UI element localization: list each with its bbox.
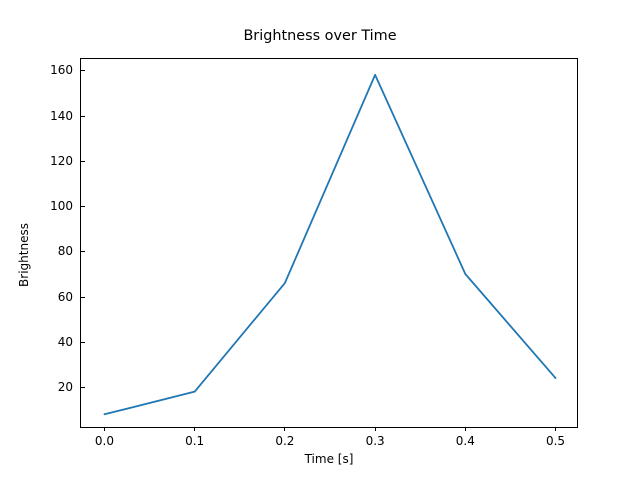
y-tick-mark: [81, 70, 85, 71]
brightness-line-series: [104, 75, 555, 414]
x-tick-label: 0.3: [366, 435, 385, 447]
x-tick-label: 0.5: [546, 435, 565, 447]
x-axis-label: Time [s]: [80, 452, 578, 466]
y-tick-label: 100: [50, 200, 81, 212]
y-tick-mark: [81, 161, 85, 162]
x-tick-mark: [465, 427, 466, 431]
y-tick-label: 160: [50, 64, 81, 76]
x-tick-label: 0.0: [95, 435, 114, 447]
y-tick-mark: [81, 251, 85, 252]
x-tick-label: 0.4: [456, 435, 475, 447]
x-tick-label: 0.2: [275, 435, 294, 447]
y-tick-mark: [81, 116, 85, 117]
y-axis-label: Brightness: [12, 70, 36, 440]
x-tick-mark: [194, 427, 195, 431]
x-tick-mark: [284, 427, 285, 431]
y-tick-label: 140: [50, 110, 81, 122]
y-tick-mark: [81, 297, 85, 298]
x-tick-mark: [555, 427, 556, 431]
x-tick-mark: [104, 427, 105, 431]
x-tick-label: 0.1: [185, 435, 204, 447]
y-tick-label: 20: [58, 381, 81, 393]
y-tick-mark: [81, 387, 85, 388]
x-tick-mark: [375, 427, 376, 431]
figure-canvas: Brightness over Time 2040608010012014016…: [0, 0, 640, 480]
y-tick-mark: [81, 342, 85, 343]
y-tick-mark: [81, 206, 85, 207]
line-plot-svg: [81, 59, 579, 429]
y-tick-label: 120: [50, 155, 81, 167]
chart-title: Brightness over Time: [0, 28, 640, 44]
plot-axes: 20406080100120140160 0.00.10.20.30.40.5: [80, 58, 578, 428]
y-tick-label: 40: [58, 336, 81, 348]
y-tick-label: 60: [58, 291, 81, 303]
y-tick-label: 80: [58, 245, 81, 257]
